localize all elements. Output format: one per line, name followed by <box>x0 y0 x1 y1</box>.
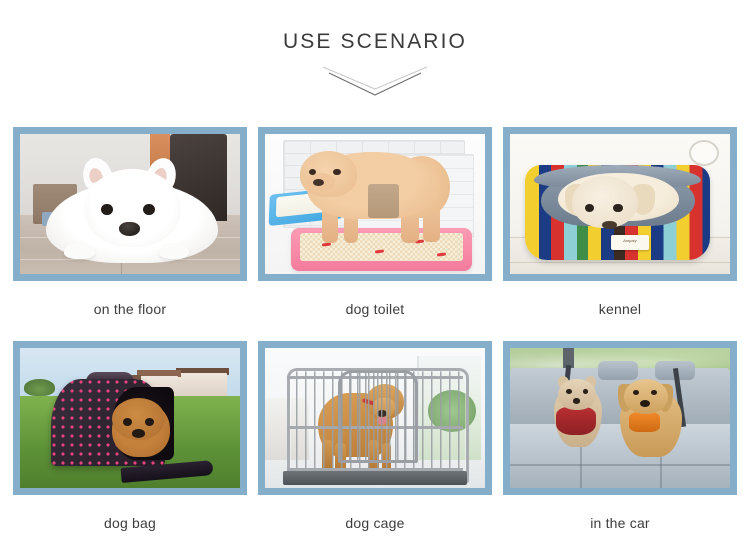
photo-frame: Ampaty <box>503 127 737 281</box>
scenario-photo-dog-bag <box>20 348 240 488</box>
section-divider <box>0 65 750 99</box>
photo-frame <box>13 127 247 281</box>
scenario-card-dog-cage[interactable]: dog cage <box>258 341 492 555</box>
double-chevron-down-icon <box>319 65 431 97</box>
scenario-caption: dog bag <box>13 495 247 532</box>
use-scenario-page: USE SCENARIO <box>0 0 750 550</box>
bed-brand-tag-text: Ampaty <box>613 238 646 248</box>
scenario-card-kennel[interactable]: Ampaty kennel <box>503 127 737 341</box>
scenario-card-dog-toilet[interactable]: dog toilet <box>258 127 492 341</box>
scenario-caption: kennel <box>503 281 737 318</box>
photo-frame <box>258 127 492 281</box>
photo-frame <box>13 341 247 495</box>
scenario-caption: in the car <box>503 495 737 532</box>
scenario-card-dog-bag[interactable]: dog bag <box>13 341 247 555</box>
scenario-photo-in-the-car <box>510 348 730 488</box>
page-title: USE SCENARIO <box>0 29 750 55</box>
page-header: USE SCENARIO <box>0 0 750 99</box>
scenario-caption: dog cage <box>258 495 492 532</box>
scenario-photo-dog-cage <box>265 348 485 488</box>
scenario-photo-kennel: Ampaty <box>510 134 730 274</box>
scenario-photo-dog-toilet <box>265 134 485 274</box>
scenario-photo-on-the-floor <box>20 134 240 274</box>
photo-frame <box>503 341 737 495</box>
scenario-caption: on the floor <box>13 281 247 318</box>
scenario-card-on-the-floor[interactable]: on the floor <box>13 127 247 341</box>
photo-frame <box>258 341 492 495</box>
scenario-caption: dog toilet <box>258 281 492 318</box>
scenario-grid: on the floor <box>13 127 737 555</box>
scenario-card-in-the-car[interactable]: in the car <box>503 341 737 555</box>
